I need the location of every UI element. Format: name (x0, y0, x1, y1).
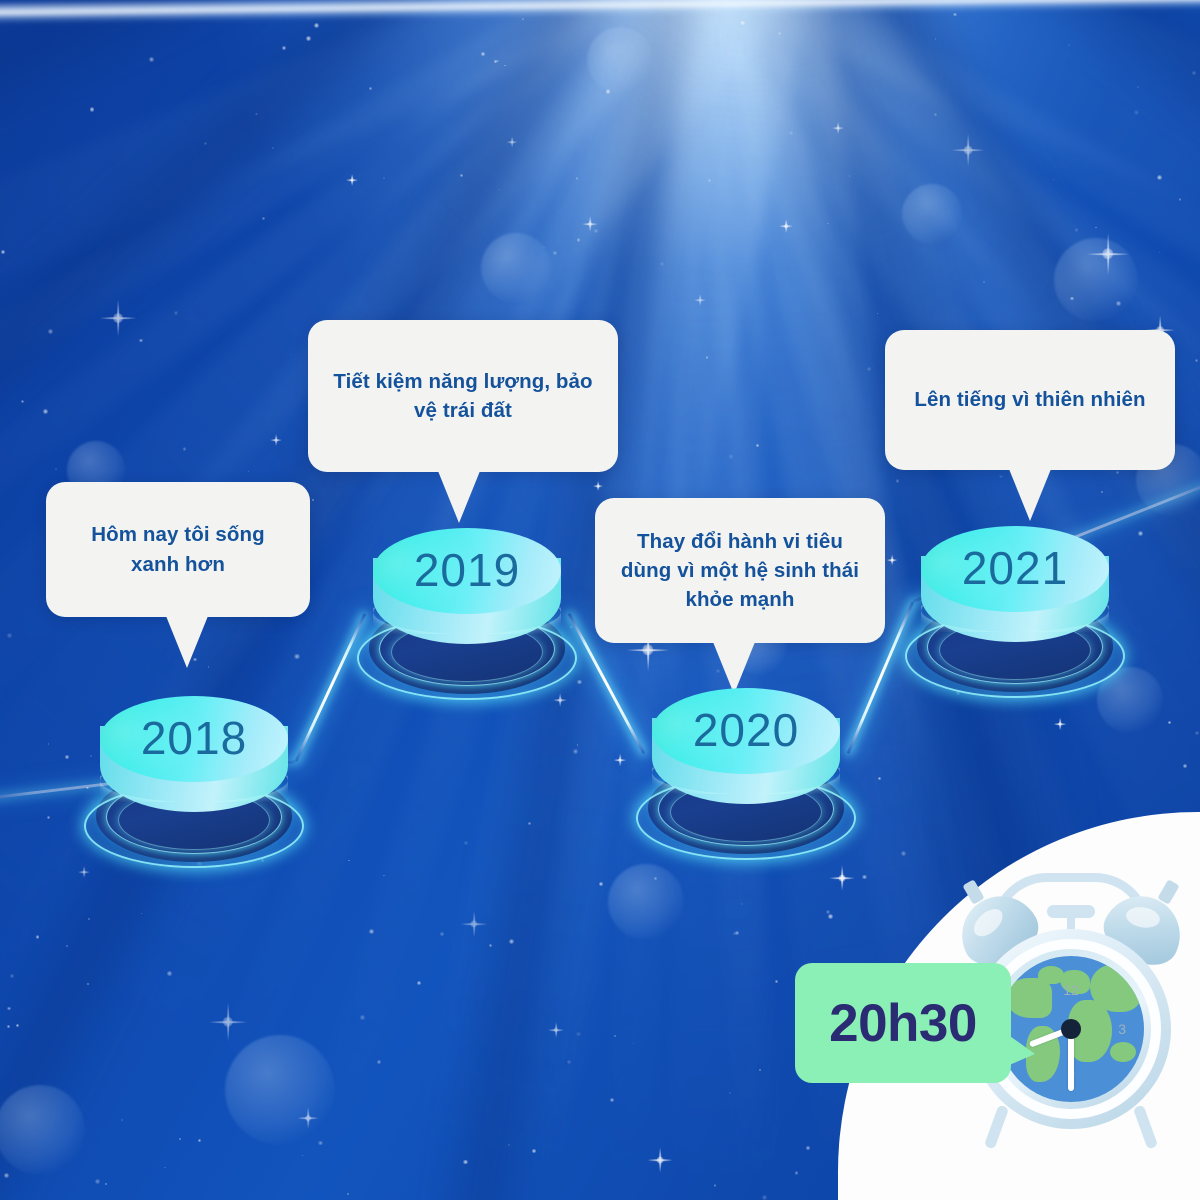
sparkle-dot (577, 680, 582, 685)
sparkle-core (642, 644, 653, 655)
sparkle-dot (204, 142, 207, 145)
bokeh-circle (225, 1035, 335, 1145)
sparkle-dot (610, 1098, 614, 1102)
sparkle-dot (828, 914, 833, 919)
sparkle-dot (179, 1138, 181, 1140)
sparkle-dot (360, 1015, 365, 1020)
sparkle-dot (740, 21, 744, 25)
disc-top-2021: 2021 (921, 526, 1109, 612)
sparkle-dot (7, 1025, 10, 1028)
sparkle-dot (862, 875, 867, 880)
sparkle-dot (498, 189, 500, 191)
sparkle-dot (1, 250, 5, 254)
milestone-message-2021: Lên tiếng vì thiên nhiên (914, 385, 1145, 414)
sparkle-dot (164, 1167, 166, 1169)
sparkle-dot (1101, 491, 1104, 494)
time-badge[interactable]: 20h30 (795, 963, 1011, 1083)
sparkle-star (270, 434, 282, 446)
sparkle-dot (1075, 228, 1079, 232)
year-disc-2019[interactable]: 2019 (365, 528, 569, 708)
sparkle-dot (1159, 252, 1161, 254)
sparkle-star (593, 481, 603, 491)
sparkle-dot (599, 882, 603, 886)
sparkle-dot (183, 447, 186, 450)
sparkle-dot (4, 1173, 9, 1178)
time-badge-label: 20h30 (829, 993, 977, 1054)
sparkle-dot (302, 1155, 303, 1156)
sparkle-dot (827, 223, 829, 225)
sparkle-core (784, 224, 788, 228)
milestone-message-2019: Tiết kiệm năng lượng, bảo vệ trái đất (330, 367, 596, 425)
sparkle-dot (1183, 764, 1187, 768)
sparkle-star (779, 219, 793, 233)
sparkle-core (836, 126, 839, 129)
sparkle-dot (806, 1146, 810, 1150)
sparkle-star (694, 294, 706, 306)
clock-leg-right (1133, 1104, 1158, 1149)
sparkle-dot (1179, 198, 1181, 200)
sparkle-dot (934, 113, 937, 116)
sparkle-core (82, 870, 85, 873)
time-badge-tail (1007, 1034, 1035, 1066)
sparkle-dot (312, 499, 314, 501)
sparkle-dot (1168, 721, 1171, 724)
sparkle-dot (383, 177, 385, 179)
sparkle-dot (878, 777, 881, 780)
sparkle-star (1054, 718, 1067, 731)
sparkle-star (99, 299, 137, 337)
sparkle-dot (318, 1141, 323, 1146)
sparkle-dot (567, 1060, 571, 1064)
sparkle-dot (706, 356, 708, 358)
sparkle-dot (504, 65, 506, 67)
sparkle-core (588, 222, 592, 226)
sparkle-core (511, 141, 514, 144)
year-disc-2018[interactable]: 2018 (92, 696, 296, 876)
sparkle-dot (614, 1035, 616, 1037)
sparkle-core (223, 1017, 233, 1027)
clock-top-button (1047, 905, 1095, 918)
sparkle-dot (508, 1144, 510, 1146)
sparkle-dot (901, 851, 906, 856)
sparkle-dot (481, 52, 485, 56)
sparkle-dot (121, 1119, 123, 1121)
sparkle-star (548, 1022, 564, 1038)
sparkle-dot (573, 749, 578, 754)
milestone-message-2020: Thay đổi hành vi tiêu dùng vì một hệ sin… (617, 527, 863, 614)
sparkle-core (597, 485, 600, 488)
sparkle-dot (262, 217, 265, 220)
sparkle-dot (741, 903, 743, 905)
sparkle-star (832, 122, 844, 134)
sparkle-dot (496, 60, 499, 63)
sparkle-dot (577, 744, 579, 746)
sparkle-dot (36, 935, 39, 938)
sparkle-dot (139, 339, 143, 343)
sparkle-dot (65, 755, 68, 758)
sparkle-dot (708, 179, 711, 182)
sparkle-dot (594, 229, 598, 233)
infographic-canvas: Hôm nay tôi sống xanh hơn Tiết kiệm năng… (0, 0, 1200, 1200)
sparkle-core (891, 559, 894, 562)
continent-asia (1090, 964, 1142, 1012)
sparkle-dot (935, 38, 936, 39)
sparkle-core (554, 1028, 558, 1032)
sparkle-dot (167, 971, 172, 976)
disc-top-2018: 2018 (100, 696, 288, 782)
sparkle-dot (789, 131, 793, 135)
sparkle-dot (464, 841, 468, 845)
sparkle-star (614, 754, 627, 767)
sparkle-core (113, 313, 123, 323)
sparkle-dot (417, 981, 422, 986)
sparkle-dot (21, 400, 24, 403)
sparkle-dot (896, 479, 900, 483)
bokeh-circle (587, 27, 653, 93)
sparkle-dot (48, 329, 53, 334)
sparkle-star (647, 1147, 673, 1173)
clock-bell-right-highlight (1125, 905, 1162, 931)
sparkle-dot (348, 860, 350, 862)
sparkle-star (346, 174, 358, 186)
clock-center-pin (1061, 1019, 1081, 1039)
sparkle-dot (282, 46, 286, 50)
milestone-bubble-2020[interactable]: Thay đổi hành vi tiêu dùng vì một hệ sin… (595, 498, 885, 643)
sparkle-core (698, 298, 701, 301)
continent-north-america (1006, 978, 1052, 1018)
sparkle-dot (463, 1160, 468, 1165)
sparkle-dot (383, 875, 385, 877)
sparkle-dot (762, 1195, 767, 1200)
bokeh-circle (481, 233, 551, 303)
sparkle-dot (149, 57, 154, 62)
sparkle-dot (953, 13, 957, 17)
sparkle-dot (55, 468, 58, 471)
sparkle-dot (733, 932, 736, 935)
sparkle-dot (1137, 86, 1139, 88)
sparkle-core (839, 875, 846, 882)
sparkle-star (507, 137, 518, 148)
bokeh-circle (0, 1085, 85, 1175)
sparkle-dot (255, 113, 257, 115)
bubble-tail-2019 (438, 471, 480, 523)
sparkle-dot (7, 633, 12, 638)
sparkle-core (274, 438, 277, 441)
sparkle-dot (290, 354, 291, 355)
clock-numeral-12: 12 (1063, 982, 1079, 998)
sparkle-dot (141, 913, 143, 915)
sparkle-dot (88, 918, 90, 920)
sparkle-dot (1195, 359, 1198, 362)
sparkle-dot (1195, 731, 1199, 735)
sparkle-dot (1116, 471, 1119, 474)
sparkle-dot (756, 444, 759, 447)
sparkle-dot (16, 1024, 19, 1027)
sparkle-star (829, 865, 855, 891)
sparkle-dot (775, 980, 778, 983)
sparkle-dot (983, 281, 985, 283)
sparkle-dot (306, 36, 311, 41)
continent-australia (1110, 1042, 1136, 1062)
clock-leg-left (984, 1104, 1009, 1149)
sparkle-core (657, 1157, 664, 1164)
bokeh-circle (902, 184, 962, 244)
sparkle-star (951, 133, 985, 167)
sparkle-dot (714, 1184, 716, 1186)
sparkle-dot (7, 1007, 10, 1010)
sparkle-dot (1138, 531, 1143, 536)
milestone-bubble-2019[interactable]: Tiết kiệm năng lượng, bảo vệ trái đất (308, 320, 618, 472)
sparkle-dot (867, 367, 871, 371)
sparkle-dot (522, 18, 524, 20)
sparkle-dot (440, 932, 444, 936)
disc-top-2019: 2019 (373, 528, 561, 614)
timeline-connector-beam (295, 613, 367, 762)
sparkle-dot (198, 1139, 201, 1142)
sparkle-star (460, 910, 488, 938)
sparkle-dot (377, 1060, 382, 1065)
year-label-2019: 2019 (414, 547, 520, 593)
sparkle-dot (369, 929, 374, 934)
sparkle-dot (778, 32, 781, 35)
sparkle-dot (1068, 44, 1070, 46)
sparkle-dot (10, 974, 14, 978)
sparkle-dot (1157, 175, 1162, 180)
sparkle-dot (1134, 110, 1139, 115)
sparkle-dot (294, 654, 299, 659)
sparkle-star (208, 1002, 248, 1042)
sparkle-dot (489, 944, 492, 947)
sparkle-dot (729, 1092, 731, 1094)
sparkle-dot (729, 454, 734, 459)
year-label-2020: 2020 (693, 707, 799, 753)
sparkle-dot (795, 1171, 799, 1175)
sparkle-dot (66, 945, 68, 947)
sparkle-dot (849, 175, 851, 177)
sparkle-dot (1192, 71, 1196, 75)
sparkle-dot (877, 313, 878, 314)
sparkle-dot (576, 1032, 581, 1037)
sparkle-dot (633, 1043, 635, 1045)
clock-bell-left-highlight (969, 904, 1008, 942)
sparkle-dot (90, 107, 94, 111)
sparkle-dot (460, 174, 463, 177)
sparkle-dot (660, 262, 664, 266)
sparkle-dot (314, 23, 319, 28)
sparkle-dot (1053, 179, 1055, 181)
sparkle-dot (272, 147, 274, 149)
sparkle-dot (48, 743, 49, 744)
year-label-2018: 2018 (141, 715, 247, 761)
bubble-tail-2020 (713, 642, 755, 694)
sparkle-dot (248, 471, 249, 472)
sparkle-star (78, 866, 90, 878)
sparkle-dot (759, 1069, 760, 1070)
top-light-streak (0, 0, 1200, 24)
bubble-tail-2021 (1009, 469, 1051, 521)
sparkle-core (618, 758, 621, 761)
sparkle-dot (43, 409, 48, 414)
milestone-bubble-2018[interactable]: Hôm nay tôi sống xanh hơn (46, 482, 310, 617)
sparkle-core (470, 920, 477, 927)
sparkle-star (887, 555, 898, 566)
year-label-2021: 2021 (962, 545, 1068, 591)
sparkle-dot (532, 1149, 536, 1153)
clock-numeral-3: 3 (1118, 1021, 1126, 1037)
sparkle-dot (174, 311, 178, 315)
sparkle-dot (570, 626, 572, 628)
sparkle-dot (509, 939, 514, 944)
milestone-message-2018: Hôm nay tôi sống xanh hơn (68, 520, 288, 578)
sparkle-dot (576, 177, 579, 180)
bokeh-circle (608, 864, 684, 940)
sparkle-dot (369, 87, 371, 89)
disc-top-2020: 2020 (652, 688, 840, 774)
sparkle-dot (95, 1179, 100, 1184)
sparkle-dot (528, 822, 531, 825)
clock-earth-face: 12 3 6 (998, 956, 1144, 1102)
sparkle-dot (577, 238, 581, 242)
sparkle-dot (105, 1183, 106, 1184)
year-disc-2020[interactable]: 2020 (644, 688, 848, 868)
sparkle-dot (47, 816, 50, 819)
sparkle-dot (1095, 227, 1097, 229)
sparkle-core (350, 178, 353, 181)
sparkle-core (964, 146, 973, 155)
year-disc-2021[interactable]: 2021 (913, 526, 1117, 706)
sparkle-core (1058, 722, 1061, 725)
sparkle-dot (347, 1193, 349, 1195)
bokeh-circle (1054, 238, 1138, 322)
sparkle-dot (999, 475, 1003, 479)
milestone-bubble-2021[interactable]: Lên tiếng vì thiên nhiên (885, 330, 1175, 470)
sparkle-dot (553, 251, 557, 255)
sparkle-dot (87, 983, 89, 985)
bubble-tail-2018 (166, 616, 208, 668)
